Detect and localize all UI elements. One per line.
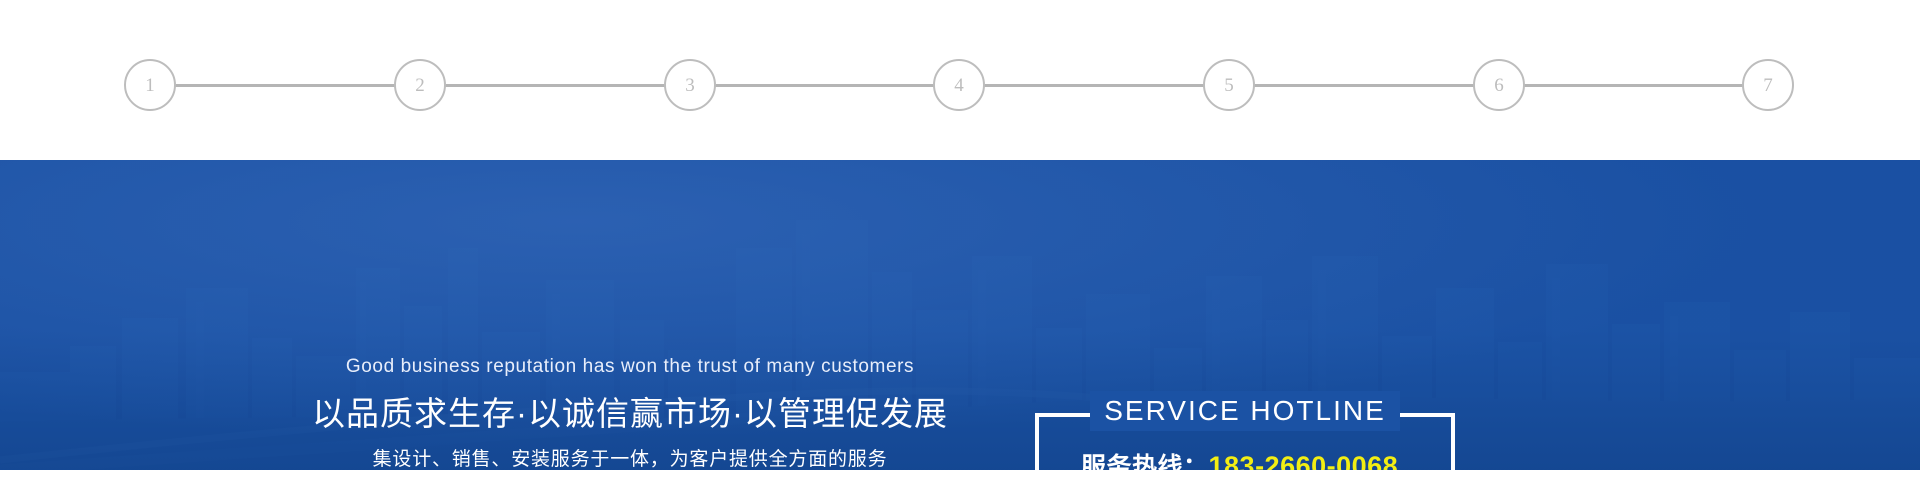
step-label: 6 (1494, 76, 1504, 95)
slogan-english-line: Good business reputation has won the tru… (300, 355, 960, 380)
bottom-white-strip (0, 470, 1920, 500)
step-indicator: 1 2 3 4 5 6 7 (0, 0, 1920, 160)
hotline-title: SERVICE HOTLINE (1090, 391, 1400, 431)
hotline-number-list: 服务热线： 183-2660-0068 0551-63749777 (1035, 447, 1455, 470)
service-hotline-box: SERVICE HOTLINE 服务热线： 183-2660-0068 0551… (1035, 413, 1455, 470)
step-label: 5 (1224, 76, 1234, 95)
step-item-4[interactable]: 4 (933, 59, 985, 111)
step-label: 4 (954, 76, 964, 95)
step-item-1[interactable]: 1 (124, 59, 176, 111)
slogan-block: Good business reputation has won the tru… (300, 355, 960, 470)
step-item-3[interactable]: 3 (664, 59, 716, 111)
slogan-headline: 以品质求生存·以诚信赢市场·以管理促发展 (300, 393, 960, 434)
hotline-row-primary: 服务热线： 183-2660-0068 (1081, 447, 1455, 470)
hotline-label: 服务热线： (1081, 447, 1209, 470)
page-root: 1 2 3 4 5 6 7 (0, 0, 1920, 500)
hotline-title-wrapper: SERVICE HOTLINE (1035, 391, 1455, 431)
step-label: 3 (685, 76, 695, 95)
banner-light-sheen (0, 160, 1920, 470)
step-label: 2 (415, 76, 425, 95)
step-item-6[interactable]: 6 (1473, 59, 1525, 111)
promo-banner: Good business reputation has won the tru… (0, 160, 1920, 470)
step-item-7[interactable]: 7 (1742, 59, 1794, 111)
hotline-phone-primary[interactable]: 183-2660-0068 (1209, 451, 1399, 470)
step-label: 7 (1763, 76, 1773, 95)
step-item-2[interactable]: 2 (394, 59, 446, 111)
slogan-subline: 集设计、销售、安装服务于一体，为客户提供全方面的服务 (300, 448, 960, 470)
step-label: 1 (145, 76, 155, 95)
step-item-5[interactable]: 5 (1203, 59, 1255, 111)
